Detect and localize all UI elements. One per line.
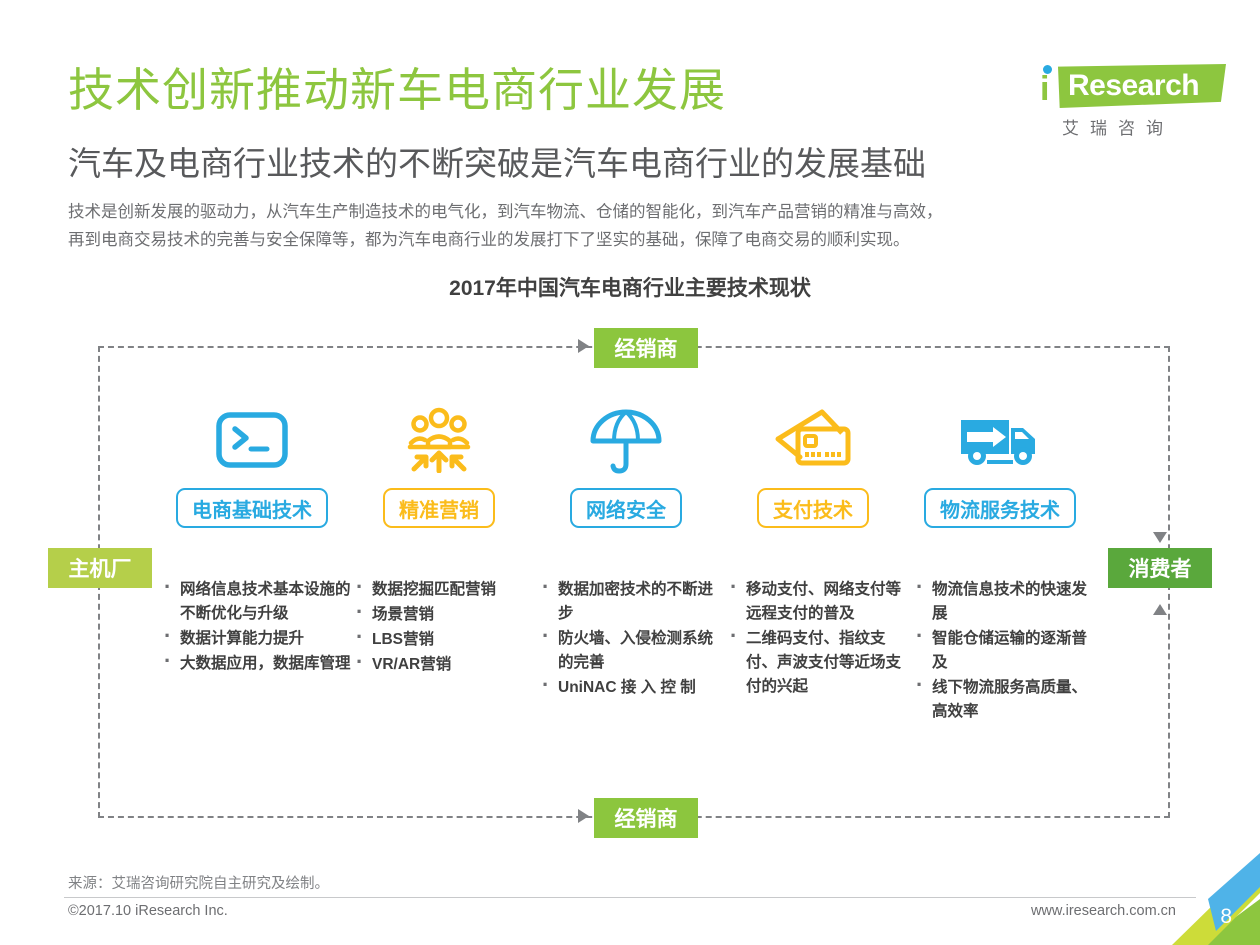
copyright-text: ©2017.10 iResearch Inc. xyxy=(68,903,228,919)
list-item: 物流信息技术的快速发展 xyxy=(912,578,1098,626)
list-item: LBS营销 xyxy=(352,628,532,652)
diagram-canvas: 经销商 经销商 主机厂 消费者 电商基础技术 网络信息技术基本设施的不断优化与升… xyxy=(0,320,1260,850)
lead-line-1: 技术是创新发展的驱动力，从汽车生产制造技术的电气化，到汽车物流、仓储的智能化，到… xyxy=(68,198,1188,226)
source-note: 来源：艾瑞咨询研究院自主研究及绘制。 xyxy=(68,872,329,893)
bullets-column-3: 数据加密技术的不断进步 防火墙、入侵检测系统的完善 UniNAC 接 入 控 制 xyxy=(538,578,718,701)
lead-paragraph: 技术是创新发展的驱动力，从汽车生产制造技术的电气化，到汽车物流、仓储的智能化，到… xyxy=(68,198,1188,254)
lead-line-2: 再到电商交易技术的完善与安全保障等，都为汽车电商行业的发展打下了坚实的基础，保障… xyxy=(68,226,1188,254)
list-item: 数据挖掘匹配营销 xyxy=(352,578,532,602)
bullets-column-1: 网络信息技术基本设施的不断优化与升级 数据计算能力提升 大数据应用，数据库管理 xyxy=(160,578,356,677)
page-number: 8 xyxy=(1220,905,1232,929)
list-item: 移动支付、网络支付等远程支付的普及 xyxy=(726,578,906,626)
node-consumer: 消费者 xyxy=(1108,548,1212,588)
logo-dot-icon xyxy=(1043,65,1052,74)
delivery-truck-icon xyxy=(905,400,1095,480)
list-item: 线下物流服务高质量、高效率 xyxy=(912,676,1098,724)
logo-letter-i: i xyxy=(1040,72,1049,106)
list-item: 场景营销 xyxy=(352,603,532,627)
tech-column-2: 精准营销 xyxy=(344,400,534,528)
chart-title: 2017年中国汽车电商行业主要技术现状 xyxy=(0,272,1260,302)
tag-logistics-service-tech[interactable]: 物流服务技术 xyxy=(924,488,1076,528)
list-item: 二维码支付、指纹支付、声波支付等近场支付的兴起 xyxy=(726,627,906,699)
logo-word-text: Research xyxy=(1068,69,1199,103)
tag-ecommerce-base-tech[interactable]: 电商基础技术 xyxy=(176,488,328,528)
list-item: 防火墙、入侵检测系统的完善 xyxy=(538,627,718,675)
iresearch-logo: Research i 艾瑞咨询 xyxy=(1032,60,1232,144)
arrow-to-dealer-bottom-icon xyxy=(578,809,589,823)
terminal-icon xyxy=(157,400,347,480)
arrow-to-consumer-bottom-icon xyxy=(1153,604,1167,615)
list-item: 数据计算能力提升 xyxy=(160,627,356,651)
list-item: 大数据应用，数据库管理 xyxy=(160,652,356,676)
umbrella-icon xyxy=(531,400,721,480)
arrow-to-dealer-top-icon xyxy=(578,339,589,353)
page-title: 技术创新推动新车电商行业发展 xyxy=(68,62,726,118)
list-item: 数据加密技术的不断进步 xyxy=(538,578,718,626)
tech-column-4: 支付技术 xyxy=(718,400,908,528)
list-item: 智能仓储运输的逐渐普及 xyxy=(912,627,1098,675)
tag-network-security[interactable]: 网络安全 xyxy=(570,488,682,528)
tag-payment-tech[interactable]: 支付技术 xyxy=(757,488,869,528)
bullets-column-5: 物流信息技术的快速发展 智能仓储运输的逐渐普及 线下物流服务高质量、高效率 xyxy=(912,578,1098,725)
arrow-to-consumer-top-icon xyxy=(1153,532,1167,543)
logo-mark: Research i xyxy=(1032,60,1232,112)
bullets-column-2: 数据挖掘匹配营销 场景营销 LBS营销 VR/AR营销 xyxy=(352,578,532,678)
list-item: VR/AR营销 xyxy=(352,653,532,677)
target-audience-icon xyxy=(344,400,534,480)
node-dealer-top: 经销商 xyxy=(594,328,698,368)
slide-page: 技术创新推动新车电商行业发展 汽车及电商行业技术的不断突破是汽车电商行业的发展基… xyxy=(0,0,1260,945)
corner-decoration xyxy=(1150,853,1260,945)
logo-green-banner: Research xyxy=(1058,64,1226,108)
footer-divider xyxy=(64,897,1196,898)
credit-card-icon xyxy=(718,400,908,480)
node-oem: 主机厂 xyxy=(48,548,152,588)
bullets-column-4: 移动支付、网络支付等远程支付的普及 二维码支付、指纹支付、声波支付等近场支付的兴… xyxy=(726,578,906,700)
list-item: UniNAC 接 入 控 制 xyxy=(538,676,718,700)
page-subtitle: 汽车及电商行业技术的不断突破是汽车电商行业的发展基础 xyxy=(68,144,926,184)
tag-precision-marketing[interactable]: 精准营销 xyxy=(383,488,495,528)
tech-column-5: 物流服务技术 xyxy=(905,400,1095,528)
tech-column-3: 网络安全 xyxy=(531,400,721,528)
logo-chinese-name: 艾瑞咨询 xyxy=(1062,114,1174,139)
tech-column-1: 电商基础技术 xyxy=(157,400,347,528)
list-item: 网络信息技术基本设施的不断优化与升级 xyxy=(160,578,356,626)
node-dealer-bottom: 经销商 xyxy=(594,798,698,838)
